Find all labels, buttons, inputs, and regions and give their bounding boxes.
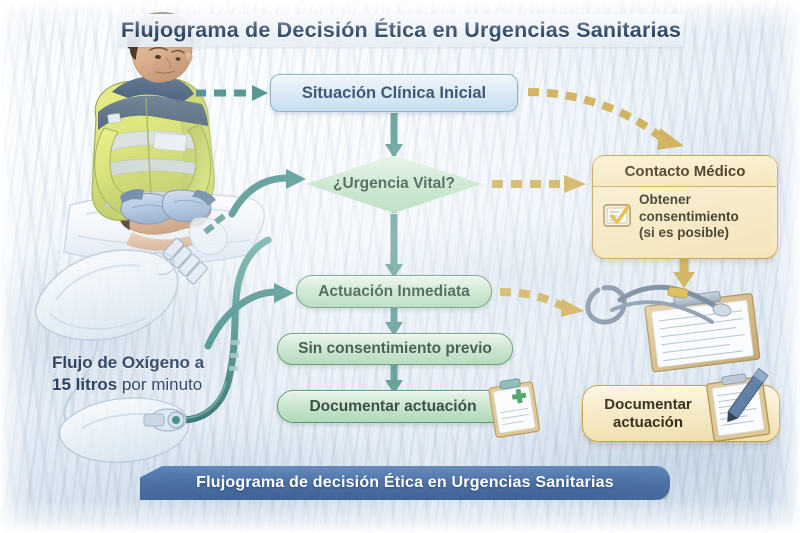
oxygen-caption-line-1: Flujo de Oxígeno a: [52, 352, 264, 374]
footer-text: Flujograma de decisión Ética en Urgencia…: [140, 466, 670, 500]
footer-banner: Flujograma de decisión Ética en Urgencia…: [140, 466, 670, 500]
clipboard-pen-icon: [705, 368, 776, 442]
infographic-poster: Flujograma de Decisión Ética en Urgencia…: [0, 0, 800, 533]
oxygen-rate-value: 15 litros: [52, 375, 117, 394]
clipboard-pen-icon-layer: [0, 0, 800, 533]
oxygen-rate-unit: por minuto: [117, 375, 202, 394]
oxygen-caption-line-2: 15 litros por minuto: [52, 374, 264, 396]
oxygen-flow-caption: Flujo de Oxígeno a 15 litros por minuto: [52, 352, 264, 396]
